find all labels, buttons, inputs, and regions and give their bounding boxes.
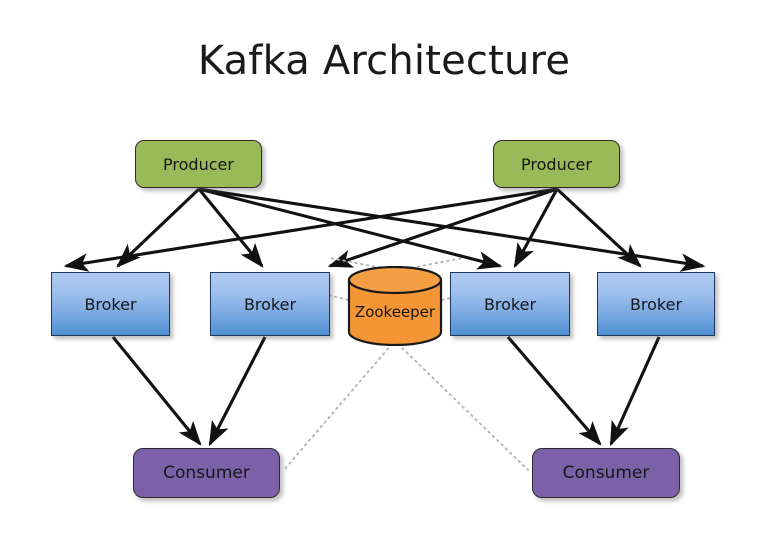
node-label: Broker: [244, 295, 296, 314]
node-consumer-1[interactable]: Consumer: [133, 448, 280, 498]
node-broker-2[interactable]: Broker: [210, 272, 330, 336]
node-label: Broker: [630, 295, 682, 314]
node-broker-4[interactable]: Broker: [597, 272, 715, 336]
node-producer-2[interactable]: Producer: [493, 140, 620, 188]
diagram-canvas: Kafka Architecture: [0, 0, 768, 554]
node-broker-1[interactable]: Broker: [51, 272, 170, 336]
cylinder-icon: [347, 266, 443, 346]
node-label: Consumer: [563, 463, 650, 483]
broker-to-consumer-edges: [113, 337, 659, 444]
node-zookeeper[interactable]: Zookeeper: [347, 266, 443, 346]
node-broker-3[interactable]: Broker: [450, 272, 570, 336]
node-label: Broker: [484, 295, 536, 314]
node-label: Producer: [521, 155, 592, 174]
node-label: Producer: [163, 155, 234, 174]
node-label: Consumer: [163, 463, 250, 483]
producer-to-broker-edges: [66, 189, 703, 266]
node-producer-1[interactable]: Producer: [135, 140, 262, 188]
node-consumer-2[interactable]: Consumer: [532, 448, 680, 498]
node-label: Broker: [84, 295, 136, 314]
